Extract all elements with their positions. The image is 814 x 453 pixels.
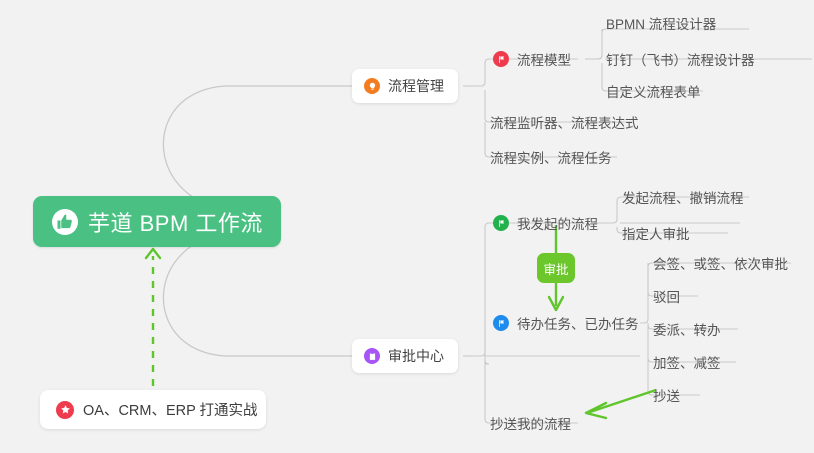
node-label-delegate-transfer: 委派、转办 [653, 319, 721, 339]
root-node[interactable]: 芋道 BPM 工作流 [33, 196, 281, 247]
node-countersign-orsign-sequential[interactable]: 会签、或签、依次审批 [653, 249, 788, 277]
callout-arrow [146, 249, 160, 386]
node-label-assignee-approval: 指定人审批 [622, 223, 690, 243]
node-custom-process-form[interactable]: 自定义流程表单 [606, 77, 701, 105]
node-label-process-model: 流程模型 [517, 49, 571, 69]
branch-node-approval-center[interactable]: 审批中心 [352, 339, 458, 373]
node-my-initiated-process[interactable]: 我发起的流程 [493, 209, 598, 237]
node-label-dingtalk-feishu-designer: 钉钉（飞书）流程设计器 [606, 49, 755, 69]
node-todo-done-tasks[interactable]: 待办任务、已办任务 [493, 309, 639, 337]
node-label-add-remove-sign: 加签、减签 [653, 352, 721, 372]
root-label: 芋道 BPM 工作流 [88, 206, 263, 238]
flag-icon [493, 315, 509, 331]
node-label-bpmn-designer: BPMN 流程设计器 [606, 13, 716, 33]
branch-label-approval-center: 审批中心 [388, 346, 444, 366]
node-label-process-instance-task: 流程实例、流程任务 [490, 147, 612, 167]
node-label-reject: 驳回 [653, 286, 680, 306]
node-bpmn-designer[interactable]: BPMN 流程设计器 [606, 9, 716, 37]
node-label-carbon-copy: 抄送 [653, 385, 680, 405]
star-icon [56, 401, 74, 419]
node-process-listener-expression[interactable]: 流程监听器、流程表达式 [490, 108, 639, 136]
node-process-model[interactable]: 流程模型 [493, 45, 571, 73]
node-start-cancel-process[interactable]: 发起流程、撤销流程 [622, 183, 744, 211]
flag-icon [493, 51, 509, 67]
thumbs-up-icon [52, 209, 78, 235]
approval-badge[interactable]: 审批 [537, 253, 575, 283]
flag-icon [493, 215, 509, 231]
lightbulb-icon [364, 78, 380, 94]
branch-node-process-management[interactable]: 流程管理 [352, 69, 458, 103]
node-add-remove-sign[interactable]: 加签、减签 [653, 348, 721, 376]
node-delegate-transfer[interactable]: 委派、转办 [653, 315, 721, 343]
callout-card[interactable]: OA、CRM、ERP 打通实战 [40, 390, 266, 429]
node-label-countersign-orsign-sequential: 会签、或签、依次审批 [653, 253, 788, 273]
mindmap-canvas: 芋道 BPM 工作流 流程管理 流程模型 流程监听器、流程表达式 流程实例、流程… [0, 0, 814, 453]
approval-badge-label: 审批 [543, 259, 568, 278]
node-process-instance-task[interactable]: 流程实例、流程任务 [490, 143, 612, 171]
node-assignee-approval[interactable]: 指定人审批 [622, 219, 690, 247]
node-label-custom-process-form: 自定义流程表单 [606, 81, 701, 101]
carbon-copy-arrow [586, 390, 656, 418]
node-label-process-listener-expression: 流程监听器、流程表达式 [490, 112, 639, 132]
node-reject[interactable]: 驳回 [653, 282, 680, 310]
callout-label: OA、CRM、ERP 打通实战 [83, 399, 258, 420]
node-cc-to-me-process[interactable]: 抄送我的流程 [490, 409, 571, 437]
branch-label-process-management: 流程管理 [388, 76, 444, 96]
node-label-my-initiated-process: 我发起的流程 [517, 213, 598, 233]
node-dingtalk-feishu-designer[interactable]: 钉钉（飞书）流程设计器 [606, 45, 755, 73]
node-label-todo-done-tasks: 待办任务、已办任务 [517, 313, 639, 333]
node-carbon-copy[interactable]: 抄送 [653, 381, 680, 409]
node-label-cc-to-me-process: 抄送我的流程 [490, 413, 571, 433]
document-icon [364, 348, 380, 364]
node-label-start-cancel-process: 发起流程、撤销流程 [622, 187, 744, 207]
